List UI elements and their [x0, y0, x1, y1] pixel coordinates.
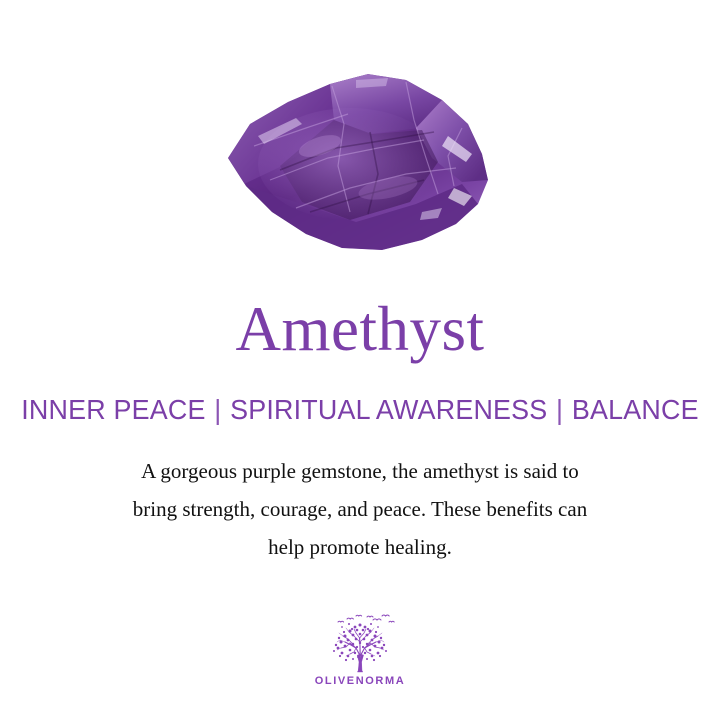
tree-of-life-icon	[323, 612, 397, 674]
description-text: A gorgeous purple gemstone, the amethyst…	[50, 452, 670, 566]
tagline-item-0: INNER PEACE	[21, 394, 205, 425]
stone-body	[210, 62, 510, 262]
tagline-separator: |	[547, 394, 571, 426]
tagline-item-1: SPIRITUAL AWARENESS	[230, 394, 547, 425]
brand-logo: OLIVENORMA	[0, 612, 720, 687]
description-line: A gorgeous purple gemstone, the amethyst…	[50, 452, 670, 490]
tagline-separator: |	[206, 394, 230, 426]
raw-amethyst-crystal-icon	[210, 62, 510, 262]
bird-icons	[338, 615, 394, 622]
brand-wordmark: OLIVENORMA	[315, 675, 406, 687]
description-line: help promote healing.	[50, 528, 670, 566]
page-title: Amethyst	[0, 296, 720, 362]
amethyst-info-card: Amethyst INNER PEACE|SPIRITUAL AWARENESS…	[0, 0, 720, 720]
tagline-item-2: BALANCE	[572, 394, 699, 425]
hero-image-container	[0, 62, 720, 272]
description-line: bring strength, courage, and peace. Thes…	[50, 490, 670, 528]
keyword-tagline: INNER PEACE|SPIRITUAL AWARENESS|BALANCE	[14, 394, 705, 426]
